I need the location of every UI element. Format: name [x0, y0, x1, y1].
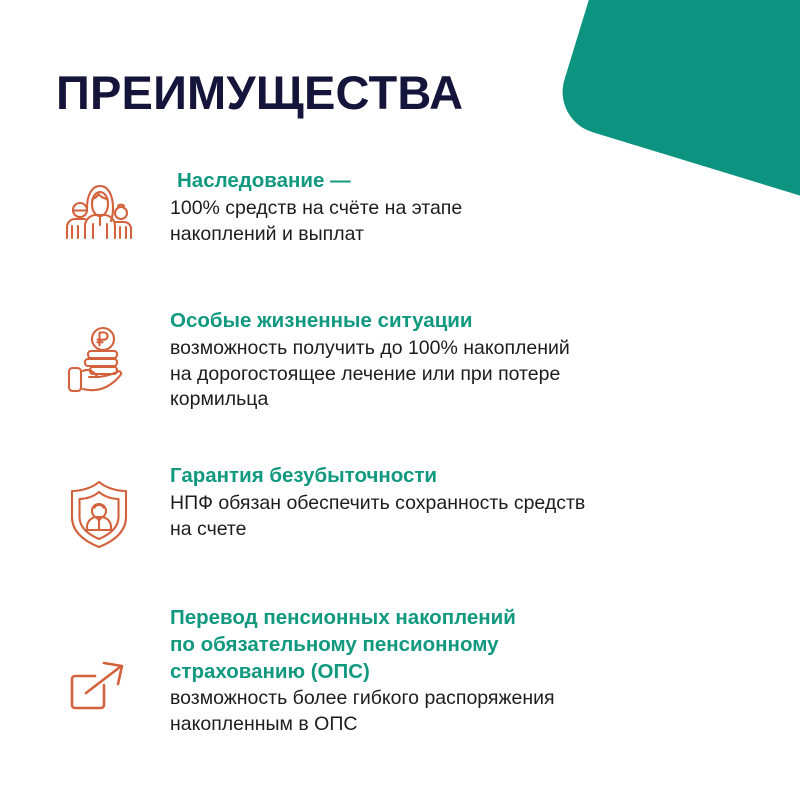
benefit-heading: Гарантия безубыточности	[170, 463, 800, 490]
benefit-text: Гарантия безубыточности НПФ обязан обесп…	[170, 463, 800, 542]
family-group-icon	[60, 174, 138, 252]
external-link-arrow-icon	[60, 647, 138, 725]
benefit-body: возможность получить до 100% накоплений …	[170, 336, 800, 414]
benefit-text: Особые жизненные ситуации возможность по…	[170, 308, 800, 413]
benefit-body: возможность более гибкого распоряжения н…	[170, 686, 800, 738]
benefit-heading: Особые жизненные ситуации	[170, 308, 800, 335]
benefit-body: 100% средств на счёте на этапе накоплени…	[170, 196, 800, 248]
benefit-item-transfer-ops: Перевод пенсионных накоплений по обязате…	[0, 605, 800, 738]
benefit-body: НПФ обязан обеспечить сохранность средст…	[170, 491, 800, 543]
benefits-list: Наследование — 100% средств на счёте на …	[0, 160, 800, 738]
benefits-slide: ПРЕИМУЩЕСТВА	[0, 0, 800, 800]
benefit-heading: Перевод пенсионных накоплений по обязате…	[170, 605, 800, 685]
hand-with-ruble-coins-icon	[60, 320, 138, 398]
benefit-item-inheritance: Наследование — 100% средств на счёте на …	[0, 168, 800, 252]
page-title: ПРЕИМУЩЕСТВА	[56, 69, 463, 117]
benefit-item-guarantee: Гарантия безубыточности НПФ обязан обесп…	[0, 463, 800, 553]
benefit-text: Наследование — 100% средств на счёте на …	[170, 168, 800, 247]
benefit-text: Перевод пенсионных накоплений по обязате…	[170, 605, 800, 738]
benefit-item-special-situations: Особые жизненные ситуации возможность по…	[0, 308, 800, 413]
shield-with-person-icon	[60, 475, 138, 553]
benefit-heading: Наследование —	[177, 168, 800, 195]
